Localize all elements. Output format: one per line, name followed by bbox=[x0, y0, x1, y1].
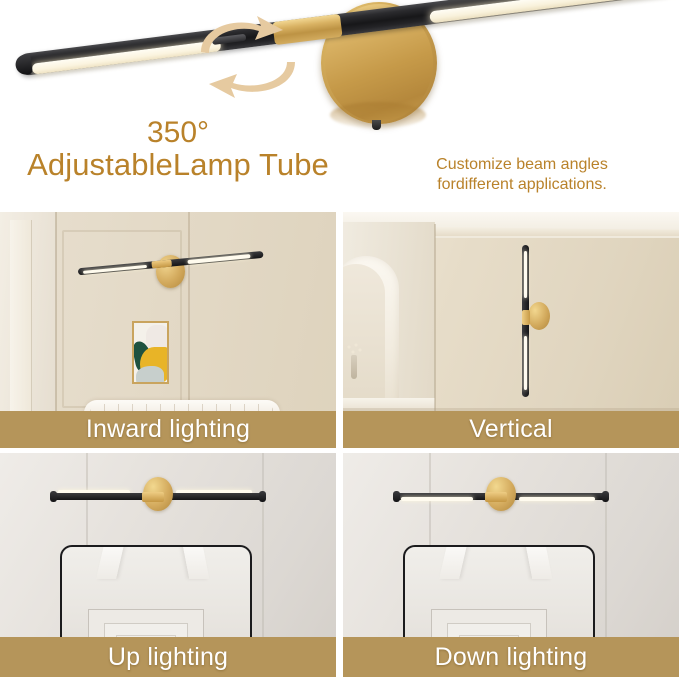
lamp-led-right bbox=[519, 497, 595, 501]
panel-vertical: Vertical bbox=[343, 212, 679, 448]
lamp-mount-disc bbox=[528, 302, 550, 330]
art-shape-blue bbox=[136, 366, 164, 384]
lamp-end-cap-right bbox=[259, 491, 266, 502]
door-edge bbox=[10, 220, 32, 416]
lighting-modes-grid: Inward lighting Vertical bbox=[0, 212, 679, 677]
wall-corner bbox=[434, 224, 436, 412]
caption-up-lighting: Up lighting bbox=[0, 637, 336, 677]
caption-vertical: Vertical bbox=[343, 411, 679, 448]
vase bbox=[351, 355, 357, 379]
caption-down-lighting: Down lighting bbox=[343, 637, 679, 677]
lamp-led-top bbox=[524, 251, 527, 298]
caption-inward-lighting: Inward lighting bbox=[0, 411, 336, 448]
panel-inward-lighting: Inward lighting bbox=[0, 212, 336, 448]
panel-down-lighting: Down lighting bbox=[343, 453, 679, 677]
hero-subtitle: Customize beam angles fordifferent appli… bbox=[382, 155, 662, 196]
lamp-led-bottom bbox=[524, 336, 527, 390]
lamp-gold-collar bbox=[485, 492, 507, 502]
ceiling-beam-right bbox=[526, 545, 553, 579]
hero-subtitle-line2: fordifferent applications. bbox=[382, 175, 662, 195]
hero-section: 350° AdjustableLamp Tube Customize beam … bbox=[0, 0, 679, 212]
lamp-led-left bbox=[401, 497, 473, 501]
lamp-tube bbox=[16, 0, 677, 84]
lamp-end-cap-right bbox=[602, 491, 609, 502]
framed-artwork bbox=[132, 321, 169, 384]
ceiling-beam-left bbox=[439, 545, 467, 579]
ceiling-beam-right bbox=[183, 545, 210, 579]
arched-alcove-inner bbox=[343, 264, 385, 406]
hero-subtitle-line1: Customize beam angles bbox=[382, 155, 662, 175]
tube-body bbox=[16, 0, 676, 76]
hero-title-main: AdjustableLamp Tube bbox=[0, 149, 356, 182]
lamp-end-cap-left bbox=[50, 491, 57, 502]
lamp-gold-collar bbox=[142, 492, 164, 502]
lamp-end-cap-left bbox=[393, 491, 400, 502]
lamp-gold-collar bbox=[522, 310, 530, 325]
rotation-arrows-icon bbox=[183, 6, 313, 106]
hero-title-degrees: 350° bbox=[0, 117, 356, 149]
tube-end-cap bbox=[14, 54, 32, 76]
hero-title: 350° AdjustableLamp Tube bbox=[0, 117, 356, 182]
product-infographic: 350° AdjustableLamp Tube Customize beam … bbox=[0, 0, 679, 677]
ceiling-beam-left bbox=[96, 545, 124, 579]
panel-up-lighting: Up lighting bbox=[0, 453, 336, 677]
wall-panel-seam bbox=[188, 212, 190, 410]
